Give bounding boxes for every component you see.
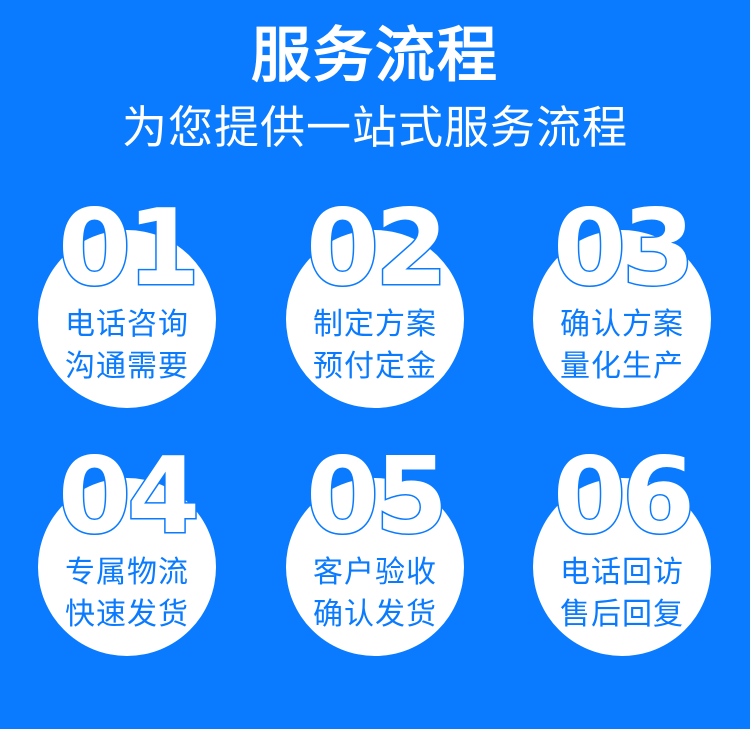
- poster-header: 服务流程 为您提供一站式服务流程: [0, 0, 750, 152]
- step-number-badge: 02: [286, 196, 464, 300]
- step-caption: 专属物流 快速发货: [38, 552, 216, 636]
- step-caption-line-1: 制定方案: [286, 304, 464, 346]
- steps-row-bottom: 04 专属物流 快速发货 05 客户验收 确认发货 06 电话回访: [0, 444, 750, 692]
- step-caption-line-1: 客户验收: [286, 552, 464, 594]
- step-caption-line-2: 沟通需要: [38, 346, 216, 388]
- step-number-badge: 04: [38, 444, 216, 548]
- step-caption: 确认方案 量化生产: [533, 304, 711, 388]
- step-caption-line-1: 电话回访: [533, 552, 711, 594]
- step-item-01[interactable]: 01 电话咨询 沟通需要: [38, 196, 216, 444]
- step-number-badge: 01: [38, 196, 216, 300]
- step-caption-line-1: 专属物流: [38, 552, 216, 594]
- step-caption-line-2: 确认发货: [286, 594, 464, 636]
- step-caption: 电话回访 售后回复: [533, 552, 711, 636]
- service-process-poster: 服务流程 为您提供一站式服务流程 01 电话咨询 沟通需要 02 制定方案 预付…: [0, 0, 750, 729]
- step-caption-line-2: 售后回复: [533, 594, 711, 636]
- steps-row-top: 01 电话咨询 沟通需要 02 制定方案 预付定金 03 确认方案: [0, 196, 750, 444]
- page-subtitle: 为您提供一站式服务流程: [0, 89, 750, 153]
- step-number-badge: 05: [286, 444, 464, 548]
- step-item-04[interactable]: 04 专属物流 快速发货: [38, 444, 216, 692]
- step-caption-line-2: 预付定金: [286, 346, 464, 388]
- step-caption-line-1: 确认方案: [533, 304, 711, 346]
- step-number-badge: 03: [533, 196, 711, 300]
- step-item-03[interactable]: 03 确认方案 量化生产: [533, 196, 711, 444]
- step-item-02[interactable]: 02 制定方案 预付定金: [286, 196, 464, 444]
- page-title: 服务流程: [0, 0, 750, 89]
- step-item-05[interactable]: 05 客户验收 确认发货: [286, 444, 464, 692]
- step-caption-line-1: 电话咨询: [38, 304, 216, 346]
- step-caption: 电话咨询 沟通需要: [38, 304, 216, 388]
- step-caption: 制定方案 预付定金: [286, 304, 464, 388]
- step-number-badge: 06: [533, 444, 711, 548]
- step-caption-line-2: 量化生产: [533, 346, 711, 388]
- step-caption: 客户验收 确认发货: [286, 552, 464, 636]
- steps-grid: 01 电话咨询 沟通需要 02 制定方案 预付定金 03 确认方案: [0, 196, 750, 729]
- step-caption-line-2: 快速发货: [38, 594, 216, 636]
- step-item-06[interactable]: 06 电话回访 售后回复: [533, 444, 711, 692]
